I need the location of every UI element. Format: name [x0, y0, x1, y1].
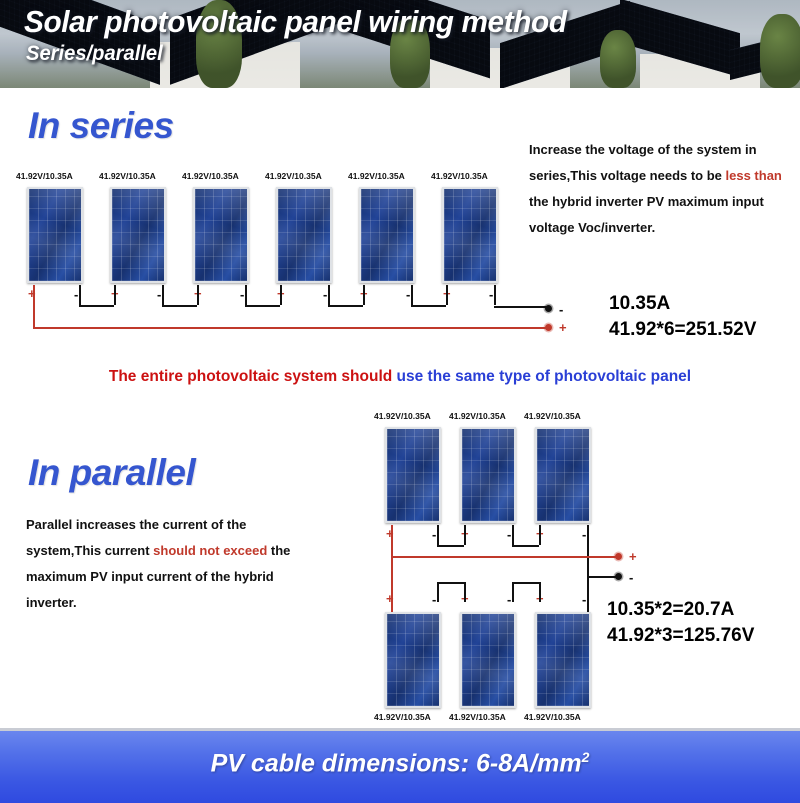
series-positive-run-down — [33, 285, 35, 327]
parallel-panel-minus-bottom: - — [507, 593, 511, 606]
footer-banner: PV cable dimensions: 6-8A/mm2 — [0, 728, 800, 803]
parallel-bot-link-up — [437, 582, 439, 602]
parallel-panel-minus-top: - — [582, 528, 586, 541]
footer-label: PV cable dimensions: 6-8A/mm2 — [0, 749, 800, 778]
series-link-down — [162, 285, 164, 305]
parallel-heading: In parallel — [28, 452, 195, 494]
series-panel-label: 41.92V/10.35A — [99, 171, 156, 181]
parallel-positive-terminal-dot — [615, 553, 622, 560]
parallel-bot-negative-rise — [587, 576, 589, 612]
parallel-bot-positive-rise — [391, 556, 393, 612]
parallel-bot-link-up — [512, 582, 514, 602]
parallel-negative-terminal-sign: - — [629, 571, 633, 584]
parallel-calc-current: 10.35*2=20.7A — [607, 597, 734, 623]
parallel-top-link-across — [512, 545, 539, 547]
parallel-note: Parallel increases the current of the sy… — [26, 512, 316, 616]
parallel-panel-label-bottom: 41.92V/10.35A — [374, 712, 431, 722]
parallel-calc-voltage: 41.92*3=125.76V — [607, 623, 754, 649]
footer-label-superscript: 2 — [582, 749, 590, 765]
series-heading: In series — [28, 105, 174, 147]
series-panel — [359, 187, 415, 283]
series-link-across — [79, 305, 114, 307]
parallel-panel-label-top: 41.92V/10.35A — [449, 411, 506, 421]
series-link-up — [280, 285, 282, 305]
series-positive-terminal-dot — [545, 324, 552, 331]
parallel-panel-label-top: 41.92V/10.35A — [524, 411, 581, 421]
parallel-positive-terminal-sign: + — [629, 550, 637, 563]
series-panel — [110, 187, 166, 283]
series-note-part2: the hybrid inverter PV maximum input vol… — [529, 194, 764, 235]
page-subtitle: Series/parallel — [26, 42, 163, 66]
series-link-down — [245, 285, 247, 305]
parallel-positive-bus — [391, 556, 618, 558]
series-panel-label: 41.92V/10.35A — [16, 171, 73, 181]
series-panel-minus: - — [489, 288, 493, 301]
system-consistency-note: The entire photovoltaic system should us… — [0, 368, 800, 386]
mid-note-blue: use the same type of photovoltaic panel — [397, 368, 692, 385]
series-panel — [442, 187, 498, 283]
parallel-panel-label-bottom: 41.92V/10.35A — [524, 712, 581, 722]
series-panel-label: 41.92V/10.35A — [348, 171, 405, 181]
parallel-top-link-across — [437, 545, 464, 547]
series-panel — [193, 187, 249, 283]
series-link-down — [79, 285, 81, 305]
parallel-panel-bottom — [535, 612, 591, 708]
series-panel-label: 41.92V/10.35A — [431, 171, 488, 181]
parallel-panel-bottom — [385, 612, 441, 708]
series-panel-label: 41.92V/10.35A — [265, 171, 322, 181]
series-panel-minus: - — [406, 288, 410, 301]
parallel-panel-label-top: 41.92V/10.35A — [374, 411, 431, 421]
parallel-bot-link-across — [512, 582, 539, 584]
page-title: Solar photovoltaic panel wiring method — [24, 4, 567, 40]
series-link-up — [446, 285, 448, 305]
parallel-panel-minus-top: - — [432, 528, 436, 541]
parallel-top-negative-drop — [587, 525, 589, 576]
parallel-panel-top — [535, 427, 591, 523]
parallel-top-positive-drop — [391, 525, 393, 556]
series-link-up — [363, 285, 365, 305]
series-link-down — [411, 285, 413, 305]
series-note-highlight: less than — [726, 168, 782, 183]
parallel-top-link-down — [512, 525, 514, 545]
parallel-panel-top — [460, 427, 516, 523]
parallel-top-link-up — [539, 525, 541, 545]
series-negative-terminal-dot — [545, 305, 552, 312]
footer-label-text: PV cable dimensions: 6-8A/mm — [211, 749, 582, 777]
parallel-bot-link-down — [539, 582, 541, 602]
parallel-negative-terminal-dot — [615, 573, 622, 580]
series-panel — [276, 187, 332, 283]
infographic-page: Solar photovoltaic panel wiring method S… — [0, 0, 800, 800]
series-link-across — [162, 305, 197, 307]
parallel-negative-bus — [587, 576, 618, 578]
series-panel-minus: - — [240, 288, 244, 301]
parallel-note-highlight: should not exceed — [153, 543, 267, 558]
series-panel — [27, 187, 83, 283]
series-link-across — [411, 305, 446, 307]
series-link-across — [328, 305, 363, 307]
parallel-top-link-down — [437, 525, 439, 545]
mid-note-red: The entire photovoltaic system should — [109, 368, 392, 385]
parallel-panel-minus-bottom: - — [432, 593, 436, 606]
parallel-panel-bottom — [460, 612, 516, 708]
parallel-panel-label-bottom: 41.92V/10.35A — [449, 712, 506, 722]
series-note-part1: Increase the voltage of the system in se… — [529, 142, 757, 183]
series-positive-terminal-sign: + — [559, 321, 567, 334]
header-banner: Solar photovoltaic panel wiring method S… — [0, 0, 800, 88]
series-positive-run — [33, 327, 548, 329]
parallel-panel-top — [385, 427, 441, 523]
series-calc-current: 10.35A — [609, 291, 670, 317]
series-panel-minus: - — [157, 288, 161, 301]
series-link-across — [245, 305, 280, 307]
series-panel-label: 41.92V/10.35A — [182, 171, 239, 181]
series-negative-run-down — [494, 285, 496, 305]
series-note: Increase the voltage of the system in se… — [529, 137, 791, 241]
parallel-top-link-up — [464, 525, 466, 545]
parallel-bot-link-across — [437, 582, 464, 584]
series-link-down — [328, 285, 330, 305]
series-link-up — [114, 285, 116, 305]
series-panel-minus: - — [323, 288, 327, 301]
series-link-up — [197, 285, 199, 305]
series-calc-voltage: 41.92*6=251.52V — [609, 317, 756, 343]
parallel-panel-minus-top: - — [507, 528, 511, 541]
series-negative-run — [494, 306, 548, 308]
parallel-panel-minus-bottom: - — [582, 593, 586, 606]
series-negative-terminal-sign: - — [559, 303, 563, 316]
series-panel-minus: - — [74, 288, 78, 301]
parallel-bot-link-down — [464, 582, 466, 602]
